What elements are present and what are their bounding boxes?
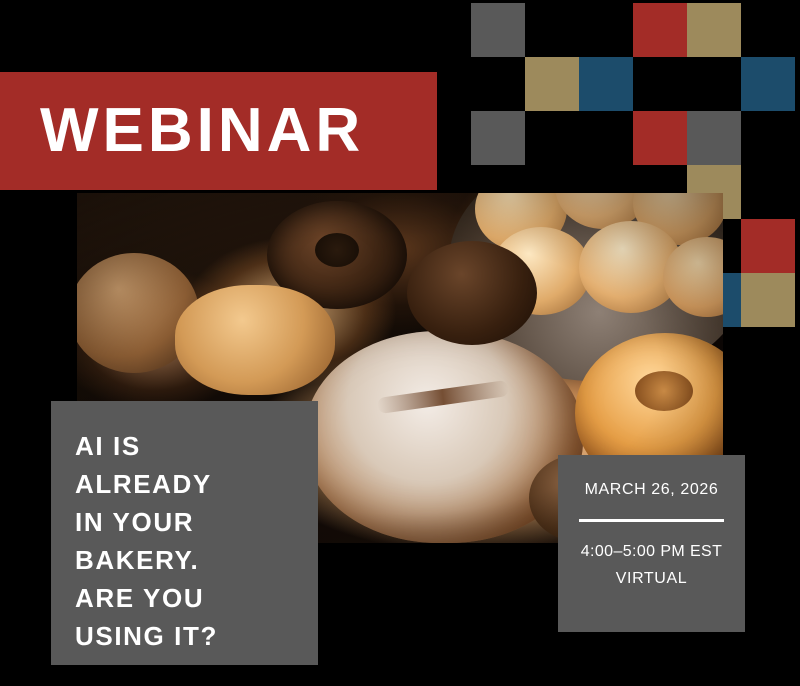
headline-panel: AI IS ALREADY IN YOUR BAKERY. ARE YOU US… (51, 401, 318, 665)
mosaic-square (525, 57, 579, 111)
mosaic-square (741, 57, 795, 111)
mosaic-square (687, 111, 741, 165)
event-time: 4:00–5:00 PM EST (581, 543, 723, 561)
event-mode: VIRTUAL (616, 570, 687, 588)
webinar-banner-label: WEBINAR (0, 100, 364, 162)
webinar-banner: WEBINAR (0, 72, 437, 190)
mosaic-square (741, 273, 795, 327)
mosaic-square (579, 57, 633, 111)
event-date: MARCH 26, 2026 (585, 481, 719, 499)
mosaic-square (687, 3, 741, 57)
mosaic-square (471, 3, 525, 57)
headline-line-5: ARE YOU (75, 579, 318, 617)
mosaic-square (633, 3, 687, 57)
headline-line-1: AI IS (75, 427, 318, 465)
mosaic-square (471, 111, 525, 165)
mosaic-square (633, 111, 687, 165)
details-divider (579, 519, 724, 522)
headline-line-4: BAKERY. (75, 541, 318, 579)
poster-canvas: WEBINAR AI IS ALREADY IN YOUR BAKERY. AR… (0, 0, 800, 686)
mosaic-square (741, 219, 795, 273)
headline-line-6: USING IT? (75, 617, 318, 655)
headline-line-2: ALREADY (75, 465, 318, 503)
headline-line-3: IN YOUR (75, 503, 318, 541)
event-details-panel: MARCH 26, 2026 4:00–5:00 PM EST VIRTUAL (558, 455, 745, 632)
